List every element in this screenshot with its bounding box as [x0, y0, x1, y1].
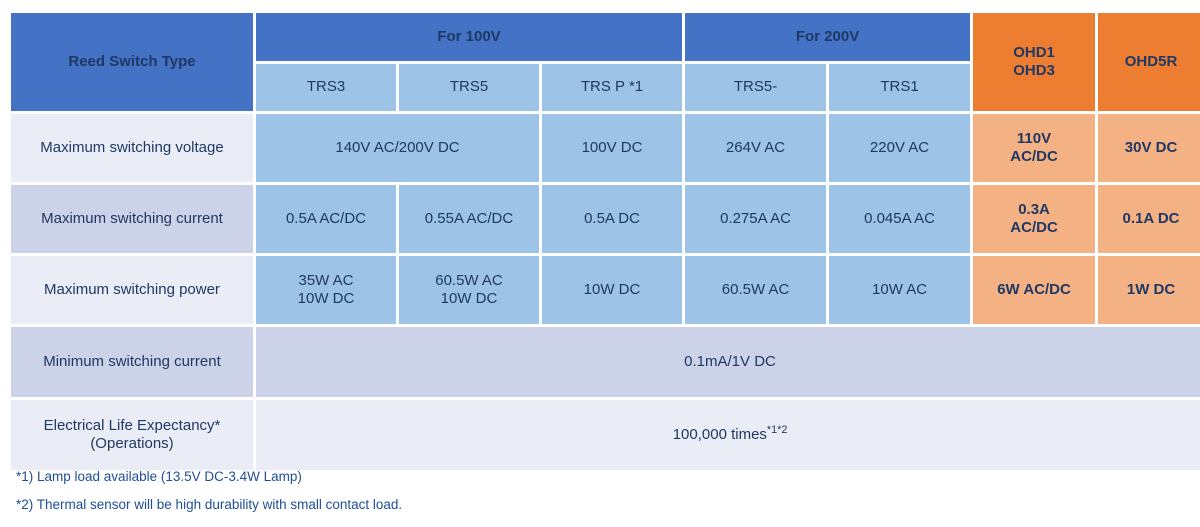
footnote-1: *1) Lamp load available (13.5V DC-3.4W L… — [16, 470, 1176, 484]
footnote-2: *2) Thermal sensor will be high durabili… — [16, 498, 1176, 512]
cell-voltage-trs5-dash: 264V AC — [685, 114, 826, 182]
life-expectancy-text: 100,000 times — [673, 426, 767, 443]
cell-voltage-trs-p: 100V DC — [542, 114, 682, 182]
cell-voltage-trs3-trs5: 140V AC/200V DC — [256, 114, 539, 182]
column-header-ohd1-ohd3: OHD1 OHD3 — [973, 13, 1095, 111]
row-label-electrical-life-expectancy: Electrical Life Expectancy* (Operations) — [11, 400, 253, 470]
column-header-ohd5r: OHD5R — [1098, 13, 1200, 111]
cell-power-trs1: 10W AC — [829, 256, 970, 324]
cell-current-ohd5r: 0.1A DC — [1098, 185, 1200, 253]
column-header-trs-p: TRS P *1 — [542, 64, 682, 112]
corner-header-reed-switch-type: Reed Switch Type — [11, 13, 253, 111]
column-header-trs1: TRS1 — [829, 64, 970, 112]
reed-switch-spec-table: Reed Switch Type For 100V For 200V OHD1 … — [8, 10, 1200, 473]
group-header-for-200v: For 200V — [685, 13, 970, 61]
column-header-trs5-dash: TRS5- — [685, 64, 826, 112]
row-label-minimum-switching-current: Minimum switching current — [11, 327, 253, 397]
cell-power-ohd1-ohd3: 6W AC/DC — [973, 256, 1095, 324]
cell-current-trs1: 0.045A AC — [829, 185, 970, 253]
table-row: Maximum switching voltage 140V AC/200V D… — [11, 114, 1200, 182]
cell-current-trs3: 0.5A AC/DC — [256, 185, 396, 253]
row-label-maximum-switching-voltage: Maximum switching voltage — [11, 114, 253, 182]
cell-current-trs-p: 0.5A DC — [542, 185, 682, 253]
cell-power-trs-p: 10W DC — [542, 256, 682, 324]
row-label-maximum-switching-current: Maximum switching current — [11, 185, 253, 253]
cell-power-trs5: 60.5W AC 10W DC — [399, 256, 539, 324]
column-header-trs5: TRS5 — [399, 64, 539, 112]
header-row-groups: Reed Switch Type For 100V For 200V OHD1 … — [11, 13, 1200, 61]
table-row: Maximum switching power 35W AC 10W DC 60… — [11, 256, 1200, 324]
cell-minimum-switching-current-value: 0.1mA/1V DC — [256, 327, 1200, 397]
cell-current-trs5-dash: 0.275A AC — [685, 185, 826, 253]
column-header-trs3: TRS3 — [256, 64, 396, 112]
cell-voltage-ohd5r: 30V DC — [1098, 114, 1200, 182]
group-header-for-100v: For 100V — [256, 13, 682, 61]
table-row: Maximum switching current 0.5A AC/DC 0.5… — [11, 185, 1200, 253]
cell-electrical-life-expectancy-value: 100,000 times*1*2 — [256, 400, 1200, 470]
spec-sheet: Reed Switch Type For 100V For 200V OHD1 … — [0, 0, 1200, 527]
cell-current-ohd1-ohd3: 0.3A AC/DC — [973, 185, 1095, 253]
table-row: Electrical Life Expectancy* (Operations)… — [11, 400, 1200, 470]
row-label-maximum-switching-power: Maximum switching power — [11, 256, 253, 324]
cell-power-trs3: 35W AC 10W DC — [256, 256, 396, 324]
cell-current-trs5: 0.55A AC/DC — [399, 185, 539, 253]
cell-power-ohd5r: 1W DC — [1098, 256, 1200, 324]
table-body: Reed Switch Type For 100V For 200V OHD1 … — [11, 13, 1200, 470]
life-expectancy-footnote-marker: *1*2 — [767, 424, 787, 436]
footnotes: *1) Lamp load available (13.5V DC-3.4W L… — [16, 470, 1176, 525]
cell-voltage-trs1: 220V AC — [829, 114, 970, 182]
cell-voltage-ohd1-ohd3: 110V AC/DC — [973, 114, 1095, 182]
cell-power-trs5-dash: 60.5W AC — [685, 256, 826, 324]
table-row: Minimum switching current 0.1mA/1V DC — [11, 327, 1200, 397]
